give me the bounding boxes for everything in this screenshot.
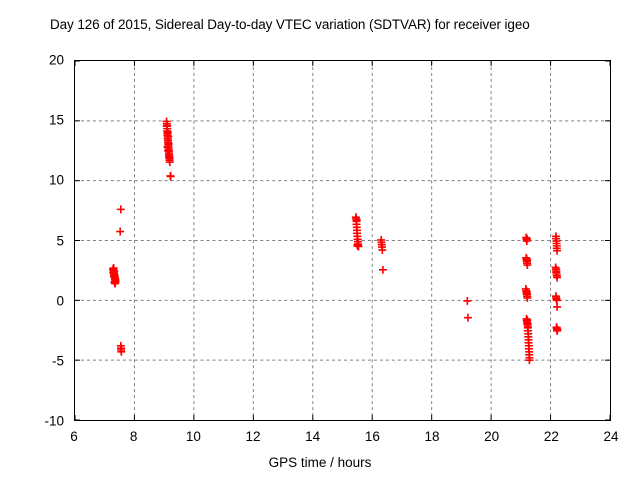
x-tick-label: 6 [70, 429, 78, 444]
y-tick-label: -10 [0, 414, 64, 429]
data-point-marker [167, 173, 175, 181]
x-tick-label: 16 [365, 429, 380, 444]
x-tick-label: 14 [305, 429, 320, 444]
y-tick-label: 10 [0, 173, 64, 188]
data-point-marker [379, 266, 387, 274]
plot-figure: Day 126 of 2015, Sidereal Day-to-day VTE… [0, 0, 640, 480]
page-title: Day 126 of 2015, Sidereal Day-to-day VTE… [50, 17, 530, 32]
x-tick-label: 12 [245, 429, 260, 444]
y-tick-label: 20 [0, 53, 64, 68]
x-tick-label: 18 [424, 429, 439, 444]
data-series [109, 117, 561, 364]
data-point-marker [463, 297, 471, 305]
data-point-marker [354, 242, 362, 250]
y-tick-label: 15 [0, 113, 64, 128]
data-point-marker [464, 314, 472, 322]
x-tick-label: 22 [544, 429, 559, 444]
x-axis-label: GPS time / hours [269, 455, 372, 470]
data-point-marker [553, 303, 561, 311]
data-point-marker [117, 205, 125, 213]
x-tick-label: 8 [130, 429, 138, 444]
data-point-marker [117, 348, 125, 356]
x-tick-label: 20 [484, 429, 499, 444]
y-tick-label: 5 [0, 233, 64, 248]
data-point-marker [116, 228, 124, 236]
y-tick-label: -5 [0, 353, 64, 368]
y-tick-label: 0 [0, 293, 64, 308]
x-tick-label: 10 [186, 429, 201, 444]
plot-frame [74, 60, 611, 421]
x-tick-label: 24 [603, 429, 618, 444]
y-axis-label: SDTVAR / TECUs [0, 132, 3, 240]
scatter-data-layer [75, 61, 610, 420]
